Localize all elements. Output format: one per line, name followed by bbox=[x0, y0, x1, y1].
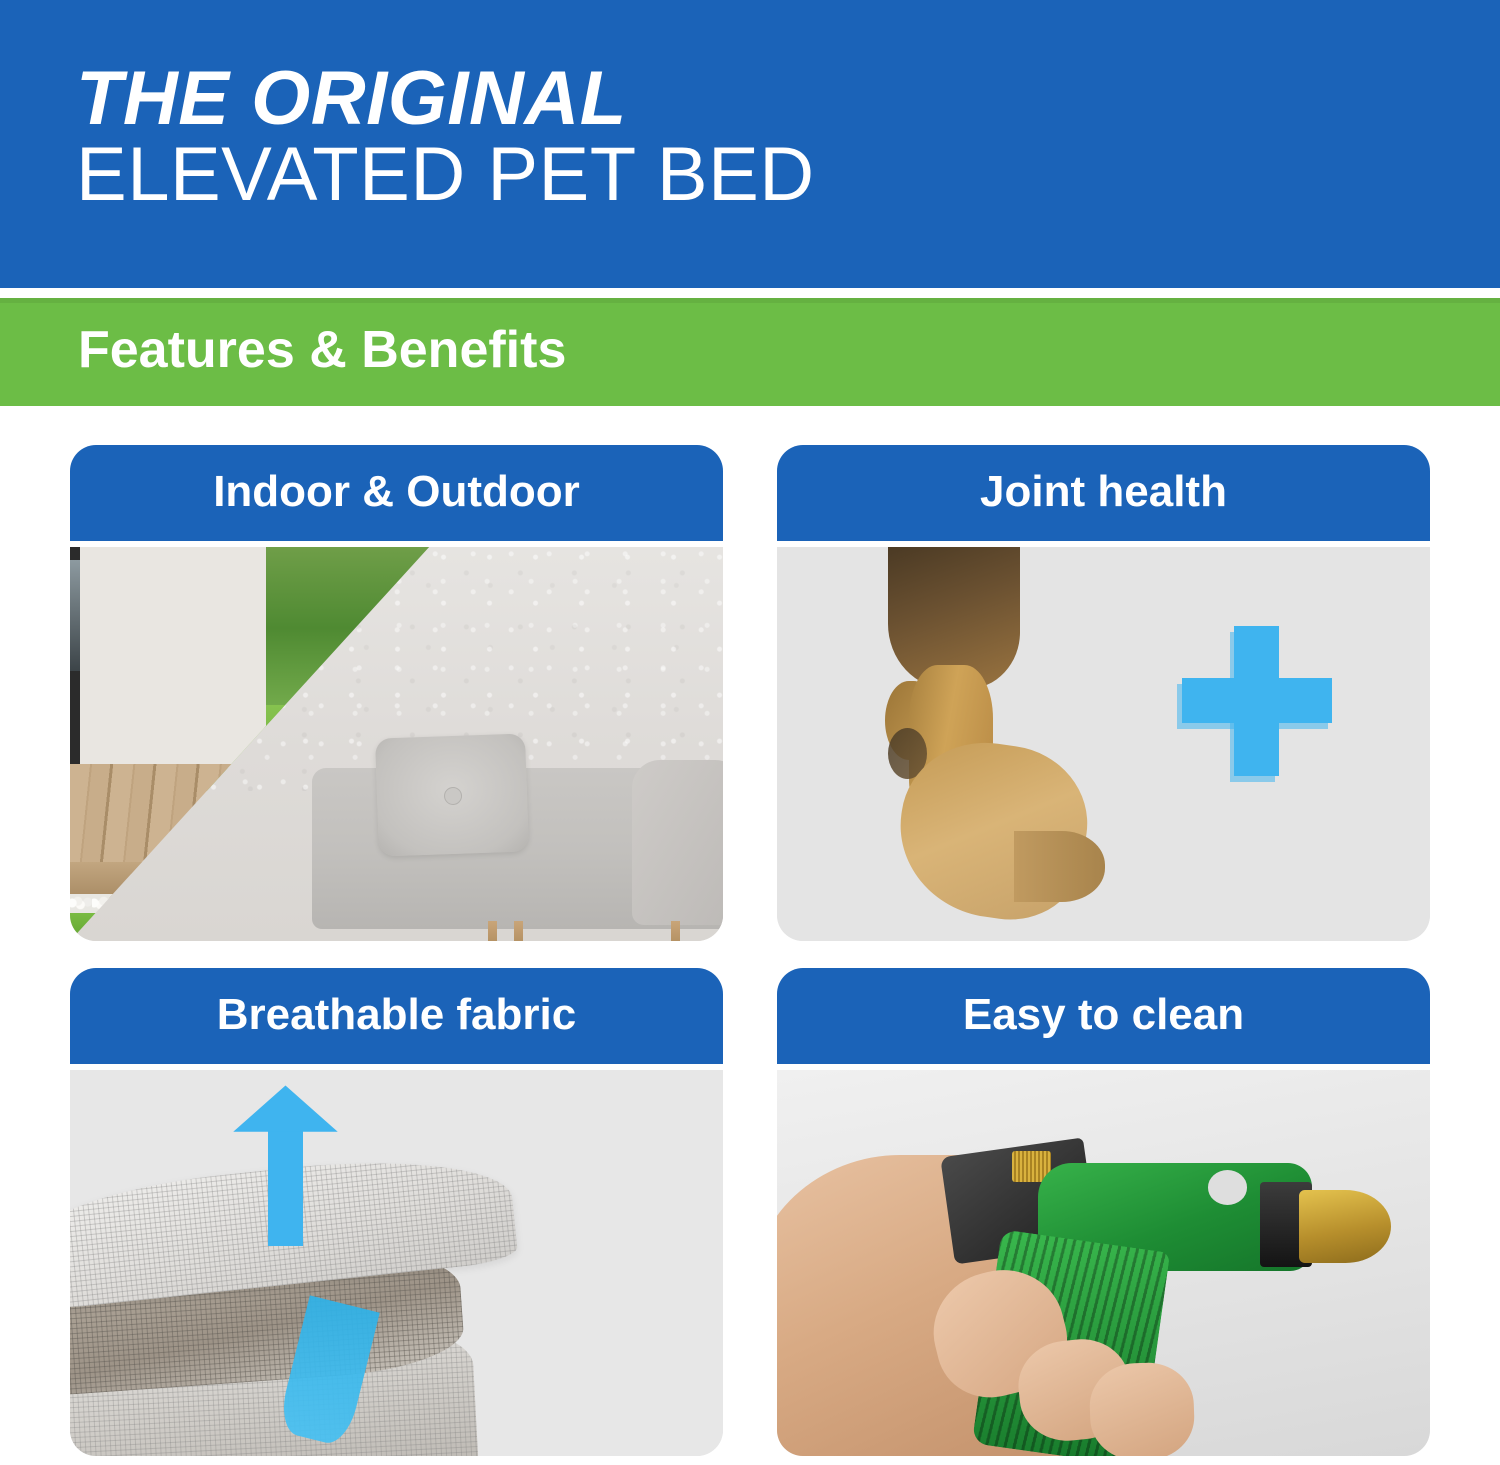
feature-card-easy-to-clean[interactable]: Easy to clean bbox=[777, 968, 1430, 1456]
cushion-button bbox=[444, 787, 463, 806]
sofa-leg bbox=[671, 921, 680, 941]
split-scene bbox=[70, 547, 723, 941]
feature-card-breathable-fabric[interactable]: Breathable fabric bbox=[70, 968, 723, 1456]
arrow-head bbox=[233, 1085, 337, 1131]
feature-card-title: Joint health bbox=[980, 467, 1227, 517]
nozzle-hang-hole bbox=[1208, 1170, 1247, 1205]
feature-card-title: Breathable fabric bbox=[217, 990, 576, 1040]
section-title: Features & Benefits bbox=[78, 320, 566, 380]
sofa-armrest bbox=[632, 760, 723, 925]
hero-title-line-1: THE ORIGINAL bbox=[76, 62, 815, 136]
feature-card-header: Breathable fabric bbox=[70, 968, 723, 1064]
medical-cross-icon bbox=[1182, 626, 1332, 776]
dog-toes bbox=[1014, 831, 1104, 902]
sofa-leg bbox=[514, 921, 523, 941]
feature-card-indoor-outdoor[interactable]: Indoor & Outdoor bbox=[70, 445, 723, 941]
section-banner: Features & Benefits bbox=[0, 298, 1500, 406]
sofa-leg bbox=[488, 921, 497, 941]
feature-card-header: Joint health bbox=[777, 445, 1430, 541]
feature-card-title: Easy to clean bbox=[963, 990, 1244, 1040]
house-window bbox=[70, 560, 80, 670]
joint-health-image bbox=[777, 547, 1430, 941]
feature-card-joint-health[interactable]: Joint health bbox=[777, 445, 1430, 941]
feature-card-header: Indoor & Outdoor bbox=[70, 445, 723, 541]
feature-card-grid: Indoor & Outdoor bbox=[0, 406, 1500, 1465]
indoor-outdoor-image bbox=[70, 547, 723, 941]
arrow-shaft bbox=[268, 1129, 304, 1246]
finger bbox=[1089, 1362, 1197, 1456]
hero-title-line-2: ELEVATED PET BED bbox=[76, 138, 815, 212]
easy-to-clean-image bbox=[777, 1070, 1430, 1456]
dog-leg-photo bbox=[816, 547, 1116, 941]
feature-card-header: Easy to clean bbox=[777, 968, 1430, 1064]
section-banner-top-shade bbox=[0, 298, 1500, 303]
page-title: THE ORIGINAL ELEVATED PET BED bbox=[76, 62, 815, 213]
hero-banner: THE ORIGINAL ELEVATED PET BED bbox=[0, 0, 1500, 288]
breathable-fabric-image bbox=[70, 1070, 723, 1456]
cross-horizontal bbox=[1182, 678, 1332, 723]
feature-card-title: Indoor & Outdoor bbox=[213, 467, 580, 517]
house-wall bbox=[70, 547, 266, 768]
sofa-cushion bbox=[375, 734, 529, 857]
nozzle-brass-tip bbox=[1299, 1190, 1390, 1263]
airflow-arrow-icon bbox=[233, 1085, 337, 1239]
